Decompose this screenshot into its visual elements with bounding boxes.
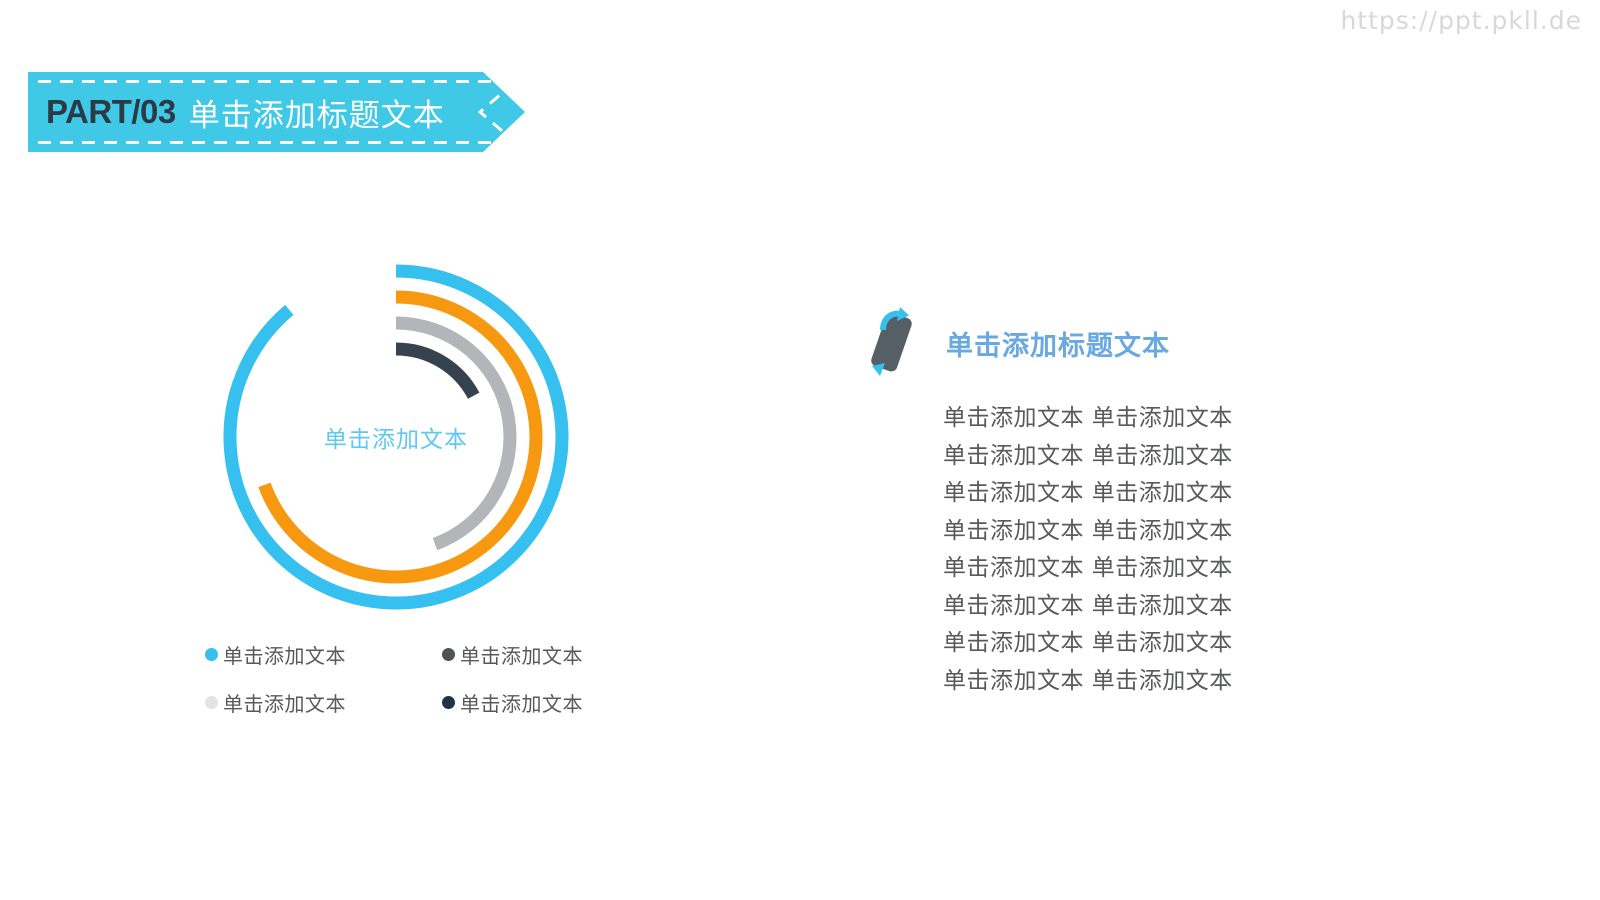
body-line: 单击添加文本 单击添加文本	[943, 513, 1463, 551]
body-line: 单击添加文本 单击添加文本	[943, 400, 1463, 438]
donut-arc-segment-1	[264, 297, 536, 577]
legend-item-label: 单击添加文本	[460, 640, 583, 669]
legend-dot-icon	[442, 696, 455, 709]
phone-rotate-icon	[860, 302, 922, 382]
legend-item-label: 单击添加文本	[223, 640, 346, 669]
donut-arc-segment-3	[396, 349, 474, 396]
legend-item[interactable]: 单击添加文本	[205, 640, 442, 669]
body-line: 单击添加文本 单击添加文本	[943, 475, 1463, 513]
legend-dot-icon	[442, 648, 455, 661]
body-line: 单击添加文本 单击添加文本	[943, 588, 1463, 626]
right-content-block: 单击添加标题文本 单击添加文本 单击添加文本 单击添加文本 单击添加文本 单击添…	[860, 300, 1480, 386]
site-watermark: https://ppt.pkll.de	[1340, 6, 1582, 35]
section-banner: PART/03 单击添加标题文本	[28, 72, 566, 152]
legend-item-label: 单击添加文本	[223, 688, 346, 717]
donut-arcs	[196, 237, 596, 637]
banner-part-label: PART/03	[46, 93, 176, 131]
legend-item[interactable]: 单击添加文本	[442, 688, 605, 717]
body-line: 单击添加文本 单击添加文本	[943, 625, 1463, 663]
banner-title: 单击添加标题文本	[189, 90, 445, 135]
body-line: 单击添加文本 单击添加文本	[943, 663, 1463, 701]
legend-item[interactable]: 单击添加文本	[442, 640, 605, 669]
right-body-text: 单击添加文本 单击添加文本 单击添加文本 单击添加文本 单击添加文本 单击添加文…	[943, 400, 1463, 700]
right-header: 单击添加标题文本	[860, 300, 1480, 386]
multi-ring-donut-chart: 单击添加文本	[196, 237, 596, 637]
legend-item-label: 单击添加文本	[460, 688, 583, 717]
body-line: 单击添加文本 单击添加文本	[943, 550, 1463, 588]
legend-dot-icon	[205, 648, 218, 661]
body-line: 单击添加文本 单击添加文本	[943, 438, 1463, 476]
banner-text-group: PART/03 单击添加标题文本	[46, 72, 445, 152]
chart-legend: 单击添加文本 单击添加文本 单击添加文本 单击添加文本	[205, 640, 605, 717]
right-title: 单击添加标题文本	[946, 324, 1170, 363]
legend-dot-icon	[205, 696, 218, 709]
legend-item[interactable]: 单击添加文本	[205, 688, 442, 717]
